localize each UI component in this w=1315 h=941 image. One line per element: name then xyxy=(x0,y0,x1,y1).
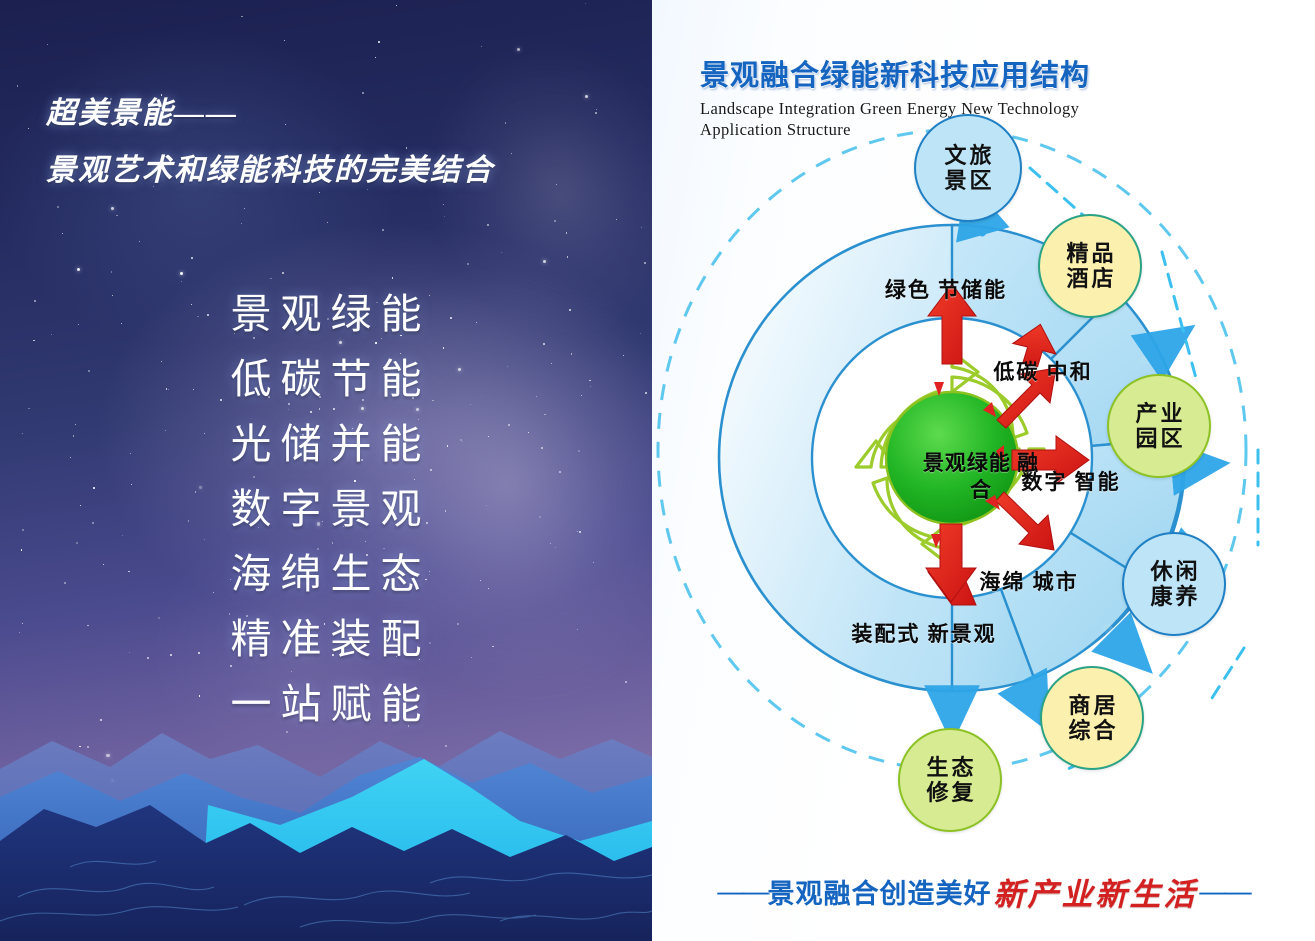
star-dot xyxy=(566,232,567,233)
star-dot xyxy=(543,260,546,263)
node-chanye-yuanqu[interactable]: 产业 园区 xyxy=(1107,374,1211,478)
star-dot xyxy=(362,92,364,94)
node-jingpin-jiudian[interactable]: 精品 酒店 xyxy=(1038,214,1142,318)
star-dot xyxy=(284,40,285,41)
left-hero-panel: 超美景能—— 景观艺术和绿能科技的完美结合 景观绿能 低碳节能 光储并能 数字景… xyxy=(0,0,652,941)
star-dot xyxy=(191,257,193,259)
star-dot xyxy=(641,227,642,228)
sector-label-green-storage: 绿色 节储能 xyxy=(870,278,1020,303)
hero-lead-line-2: 景观艺术和绿能科技的完美结合 xyxy=(46,145,494,189)
hero-lead-line-1: 超美景能—— xyxy=(46,88,238,132)
star-dot xyxy=(180,272,183,275)
link-wenlv-jingpin xyxy=(1030,168,1084,216)
star-dot xyxy=(285,124,286,125)
star-dot xyxy=(585,3,586,4)
star-dot xyxy=(505,122,506,123)
star-dot xyxy=(62,233,63,234)
star-dot xyxy=(57,206,59,208)
star-dot xyxy=(585,95,588,98)
star-dot xyxy=(270,278,271,279)
star-dot xyxy=(644,262,645,263)
link-jingpin-chanye xyxy=(1162,252,1197,382)
feature-item: 数字景观 xyxy=(0,477,652,542)
star-dot xyxy=(554,220,556,222)
feature-list: 景观绿能 低碳节能 光储并能 数字景观 海绵生态 精准装配 一站赋能 xyxy=(0,282,652,737)
star-dot xyxy=(28,128,29,129)
footer-red-text: 新产业新生活 xyxy=(994,869,1198,914)
footer-tagline: —— 景观融合创造美好 新产业新生活 —— xyxy=(652,862,1315,920)
star-dot xyxy=(375,57,376,58)
link-xiuxian-shangju xyxy=(1212,648,1244,698)
footer-blue-text: 景观融合创造美好 xyxy=(768,872,992,911)
star-dot xyxy=(511,153,512,154)
star-dot xyxy=(443,204,444,205)
star-dot xyxy=(47,44,48,45)
star-dot xyxy=(596,109,597,110)
star-dot xyxy=(111,207,114,210)
star-dot xyxy=(396,5,397,6)
node-shangju-zonghe[interactable]: 商居 综合 xyxy=(1040,666,1144,770)
footer-dash-left: —— xyxy=(718,876,768,907)
star-dot xyxy=(77,268,80,271)
star-dot xyxy=(481,46,482,47)
core-label: 景观绿能 融合 xyxy=(916,450,1046,504)
star-dot xyxy=(244,208,245,209)
node-shengtai-xiufu[interactable]: 生态 修复 xyxy=(898,728,1002,832)
footer-dash-right: —— xyxy=(1200,876,1250,907)
star-dot xyxy=(467,263,469,265)
feature-item: 一站赋能 xyxy=(0,672,652,737)
feature-item: 低碳节能 xyxy=(0,347,652,412)
feature-item: 精准装配 xyxy=(0,607,652,672)
star-dot xyxy=(501,252,502,253)
poster-canvas: 超美景能—— 景观艺术和绿能科技的完美结合 景观绿能 低碳节能 光储并能 数字景… xyxy=(0,0,1315,941)
feature-item: 海绵生态 xyxy=(0,542,652,607)
star-dot xyxy=(595,112,596,113)
connector-to-shangju xyxy=(1107,628,1144,665)
star-dot xyxy=(282,272,284,274)
sector-label-prefab-landscape: 装配式 新景观 xyxy=(848,622,998,647)
mountain-silhouette xyxy=(0,701,652,941)
star-dot xyxy=(319,192,320,193)
star-dot xyxy=(327,222,328,223)
star-dot xyxy=(378,41,380,43)
star-dot xyxy=(116,215,117,216)
feature-item: 景观绿能 xyxy=(0,282,652,347)
structure-diagram: 绿色 节储能 低碳 中和 数字 智能 海绵 城市 装配式 新景观 景观绿能 xyxy=(652,120,1315,840)
star-dot xyxy=(139,241,140,242)
star-dot xyxy=(444,216,445,217)
star-dot xyxy=(517,48,520,51)
star-dot xyxy=(392,277,393,278)
star-dot xyxy=(241,16,242,17)
star-dot xyxy=(111,271,112,272)
feature-item: 光储并能 xyxy=(0,412,652,477)
node-wenlv-jingqu[interactable]: 文旅 景区 xyxy=(914,114,1022,222)
right-diagram-panel: 景观融合绿能新科技应用结构 Landscape Integration Gree… xyxy=(652,0,1315,941)
star-dot xyxy=(382,229,384,231)
star-dot xyxy=(17,85,18,86)
star-dot xyxy=(241,223,242,224)
node-xiuxian-kangyang[interactable]: 休闲 康养 xyxy=(1122,532,1226,636)
sector-label-sponge-city: 海绵 城市 xyxy=(968,570,1088,595)
page-title: 景观融合绿能新科技应用结构 xyxy=(700,52,1100,94)
star-dot xyxy=(556,184,557,185)
sector-label-carbon-neutral: 低碳 中和 xyxy=(982,360,1102,385)
star-dot xyxy=(616,219,617,220)
star-dot xyxy=(567,256,568,257)
star-dot xyxy=(487,224,489,226)
